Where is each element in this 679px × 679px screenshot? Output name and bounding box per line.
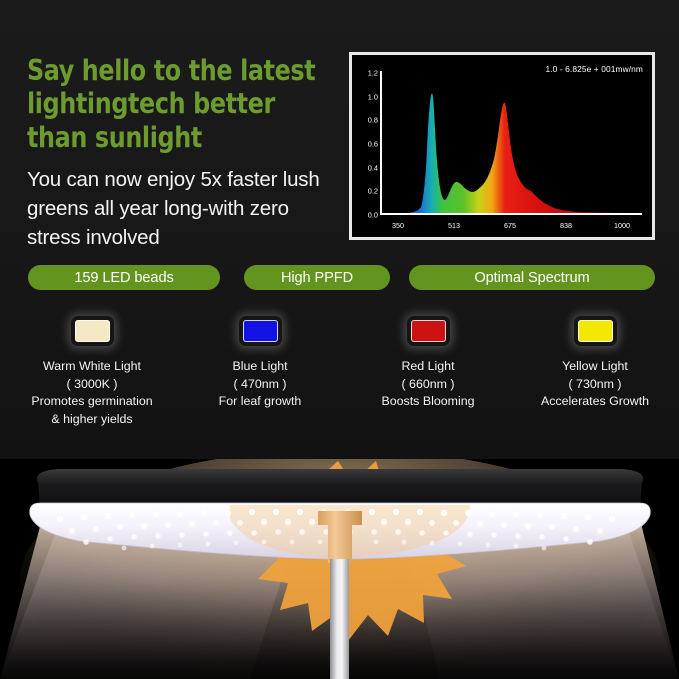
light-type-spec: ( 660nm ) <box>344 376 512 394</box>
y-tick-1: 0.2 <box>356 187 378 196</box>
subheading-line-3: stress involved <box>27 223 352 252</box>
headline-line-2: lightingtech better <box>27 87 325 120</box>
light-type-name: Yellow Light <box>511 358 679 376</box>
light-type-benefit-1: Promotes germination <box>8 393 176 411</box>
x-tick-0: 350 <box>392 221 404 230</box>
feature-pill-label: Optimal Spectrum <box>474 270 589 286</box>
feature-pill-optimal-spectrum[interactable]: Optimal Spectrum <box>409 265 655 290</box>
light-type-name: Warm White Light <box>8 358 176 376</box>
y-axis <box>380 71 382 215</box>
light-type-spec: ( 470nm ) <box>176 376 344 394</box>
y-tick-4: 0.8 <box>356 116 378 125</box>
x-tick-1: 513 <box>448 221 460 230</box>
y-tick-6: 1.2 <box>356 68 378 77</box>
light-type-spec: ( 730nm ) <box>511 376 679 394</box>
headline-line-1: Say hello to the latest <box>27 54 325 87</box>
light-type-benefit-1: Boosts Blooming <box>344 393 512 411</box>
light-type-name: Blue Light <box>176 358 344 376</box>
x-axis <box>380 213 642 215</box>
light-type-benefit-1: For leaf growth <box>176 393 344 411</box>
red-swatch-icon <box>411 320 446 342</box>
light-type-benefit-1: Accelerates Growth <box>511 393 679 411</box>
subheading-line-1: You can now enjoy 5x faster lush <box>27 165 352 194</box>
light-type-warm-white: Warm White Light ( 3000K ) Promotes germ… <box>8 320 176 428</box>
feature-pill-label: High PPFD <box>281 270 353 286</box>
light-type-red: Red Light ( 660nm ) Boosts Blooming <box>344 320 512 411</box>
light-type-yellow: Yellow Light ( 730nm ) Accelerates Growt… <box>511 320 679 411</box>
warm-white-swatch-icon <box>75 320 110 342</box>
product-photo <box>0 459 679 679</box>
x-tick-4: 1000 <box>614 221 630 230</box>
light-type-name: Red Light <box>344 358 512 376</box>
light-type-benefit-2: & higher yields <box>8 411 176 429</box>
feature-pill-label: 159 LED beads <box>74 270 173 286</box>
spectrum-chart: 1.0 - 6.825e + 001mw/nm <box>349 52 655 240</box>
subheading: You can now enjoy 5x faster lush greens … <box>27 165 352 252</box>
y-tick-5: 1.0 <box>356 92 378 101</box>
light-type-blue: Blue Light ( 470nm ) For leaf growth <box>176 320 344 411</box>
yellow-swatch-icon <box>578 320 613 342</box>
feature-pill-led-beads[interactable]: 159 LED beads <box>28 265 220 290</box>
top-content-section: Say hello to the latest lightingtech bet… <box>0 0 679 460</box>
subheading-line-2: greens all year long-with zero <box>27 194 352 223</box>
support-pole <box>330 559 349 679</box>
product-photo-illustration <box>0 459 679 679</box>
y-tick-3: 0.6 <box>356 139 378 148</box>
x-tick-3: 838 <box>560 221 572 230</box>
y-tick-0: 0.0 <box>356 211 378 220</box>
page-title: Say hello to the latest lightingtech bet… <box>27 54 325 154</box>
blue-swatch-icon <box>243 320 278 342</box>
infographic-root: Say hello to the latest lightingtech bet… <box>0 0 679 679</box>
headline-line-3: than sunlight <box>27 121 325 154</box>
chart-plot-area: 1.0 - 6.825e + 001mw/nm <box>352 55 652 237</box>
spectrum-curve <box>352 55 652 237</box>
y-tick-2: 0.4 <box>356 163 378 172</box>
x-tick-2: 675 <box>504 221 516 230</box>
light-type-spec: ( 3000K ) <box>8 376 176 394</box>
feature-pill-high-ppfd[interactable]: High PPFD <box>244 265 390 290</box>
